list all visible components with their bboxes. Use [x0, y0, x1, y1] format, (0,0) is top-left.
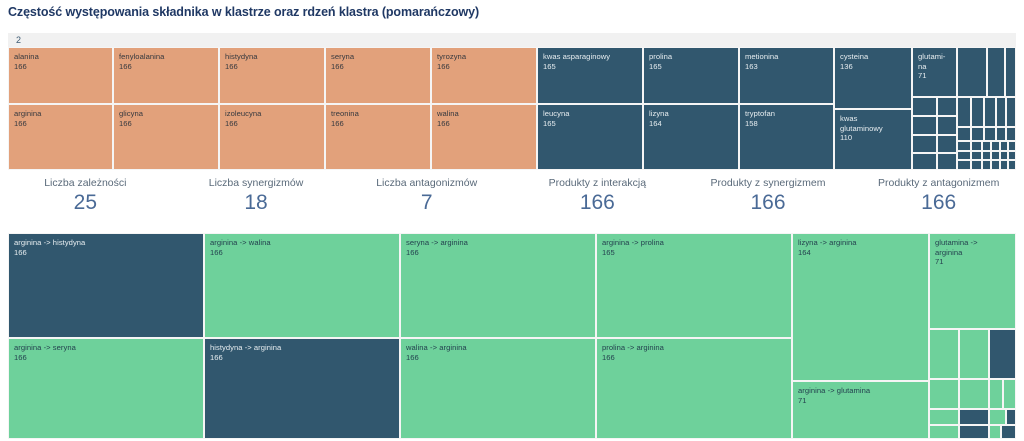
tile-value: 164	[793, 248, 928, 258]
tile-value: 110	[835, 133, 911, 143]
treemap-tile-small[interactable]	[982, 151, 991, 160]
treemap-tile-small[interactable]	[989, 379, 1003, 409]
treemap-tile[interactable]: arginina -> walina 166	[204, 233, 400, 338]
treemap-tile[interactable]: walina 166	[431, 104, 537, 170]
treemap-tile[interactable]: seryna 166	[325, 47, 431, 104]
treemap-tile-small[interactable]	[996, 127, 1006, 141]
treemap-tile-small[interactable]	[1008, 141, 1016, 151]
treemap-tile[interactable]: metionina 163	[739, 47, 834, 104]
tile-value: 166	[432, 62, 536, 72]
tile-value: 166	[9, 248, 203, 258]
treemap-tile-small[interactable]	[957, 160, 971, 170]
treemap-tile-small[interactable]	[1003, 379, 1016, 409]
tile-label: tryptofan	[740, 105, 833, 119]
treemap-tile-small[interactable]	[991, 160, 1000, 170]
bottom-treemap-panel: arginina -> histydyna 166 arginina -> wa…	[8, 233, 1016, 439]
treemap-tile-small[interactable]	[957, 97, 971, 127]
treemap-tile-small[interactable]	[929, 425, 959, 439]
tile-label: fenyloalanina	[114, 48, 218, 62]
kpi-liczba-synergizmow: Liczba synergizmów 18	[171, 176, 342, 228]
tile-value: 165	[597, 248, 791, 258]
treemap-tile-small[interactable]	[1006, 97, 1016, 127]
kpi-label: Produkty z synergizmem	[683, 176, 854, 190]
treemap-tile[interactable]: cysteina 136	[834, 47, 912, 109]
kpi-value: 18	[171, 190, 342, 216]
kpi-value: 166	[512, 190, 683, 216]
tile-value: 166	[401, 353, 595, 363]
tile-value: 163	[740, 62, 833, 72]
treemap-tile[interactable]: glutami- na 71	[912, 47, 957, 97]
treemap-tile-small[interactable]	[971, 160, 982, 170]
tile-label: lizyna	[644, 105, 738, 119]
treemap-tile-small[interactable]	[929, 409, 959, 425]
treemap-tile-small[interactable]	[937, 116, 957, 135]
treemap-tile-small[interactable]	[1006, 127, 1016, 141]
treemap-tile-small[interactable]	[984, 97, 996, 127]
treemap-tile[interactable]: tryptofan 158	[739, 104, 834, 170]
kpi-label: Liczba antagonizmów	[341, 176, 512, 190]
kpi-row: Liczba zależności 25 Liczba synergizmów …	[0, 176, 1024, 228]
treemap-tile[interactable]: leucyna 165	[537, 104, 643, 170]
kpi-label: Produkty z antagonizmem	[853, 176, 1024, 190]
tile-label: histydyna	[220, 48, 324, 62]
treemap-tile[interactable]: tyrozyna 166	[431, 47, 537, 104]
treemap-tile[interactable]: izoleucyna 166	[219, 104, 325, 170]
treemap-tile[interactable]: arginina -> prolina 165	[596, 233, 792, 338]
treemap-tile-small[interactable]	[971, 141, 982, 151]
treemap-tile-small[interactable]	[971, 97, 984, 127]
kpi-value: 7	[341, 190, 512, 216]
tile-value: 166	[9, 119, 112, 129]
tile-label: glutami- na	[913, 48, 956, 71]
tile-value: 165	[538, 62, 642, 72]
tile-value: 166	[326, 119, 430, 129]
treemap-tile-small[interactable]	[996, 97, 1006, 127]
treemap-tile-small[interactable]	[991, 151, 1000, 160]
tile-label: seryna	[326, 48, 430, 62]
tile-value: 166	[9, 62, 112, 72]
tile-label: lizyna -> arginina	[793, 234, 928, 248]
treemap-tile[interactable]: seryna -> arginina 166	[400, 233, 596, 338]
kpi-value: 166	[853, 190, 1024, 216]
tile-value: 166	[9, 353, 203, 363]
tile-label: arginina -> walina	[205, 234, 399, 248]
treemap-tile-small[interactable]	[937, 153, 957, 170]
tile-value: 136	[835, 62, 911, 72]
tile-label: arginina -> seryna	[9, 339, 203, 353]
tile-value: 166	[114, 119, 218, 129]
treemap-tile-small[interactable]	[959, 379, 989, 409]
tile-label: prolina	[644, 48, 738, 62]
tile-label: arginina -> prolina	[597, 234, 791, 248]
treemap-tile-small[interactable]	[989, 409, 1006, 425]
treemap-tile[interactable]: arginina 166	[8, 104, 113, 170]
treemap-tile-small[interactable]	[1008, 160, 1016, 170]
tile-label: histydyna -> arginina	[205, 339, 399, 353]
treemap-tile[interactable]: treonina 166	[325, 104, 431, 170]
treemap-tile-small[interactable]	[987, 47, 1005, 97]
tile-label: seryna -> arginina	[401, 234, 595, 248]
treemap-tile-small[interactable]	[957, 127, 971, 141]
treemap-tile-small[interactable]	[1000, 151, 1008, 160]
treemap-tile[interactable]: glicyna 166	[113, 104, 219, 170]
tile-label: cysteina	[835, 48, 911, 62]
treemap-tile-small[interactable]	[959, 425, 989, 439]
tile-value: 166	[432, 119, 536, 129]
tile-label: walina	[432, 105, 536, 119]
top-treemap-body: alanina 166 fenyloalanina 166 histydyna …	[8, 47, 1016, 170]
top-treemap-group-label: 2	[8, 33, 1016, 47]
tile-label: prolina -> arginina	[597, 339, 791, 353]
treemap-tile-small[interactable]	[1000, 160, 1008, 170]
tile-value: 164	[644, 119, 738, 129]
top-treemap-panel: 2 alanina 166 fenyloalanina 166 histydyn…	[8, 33, 1016, 170]
treemap-tile-small[interactable]	[937, 135, 957, 153]
tile-value: 166	[597, 353, 791, 363]
treemap-tile[interactable]: lizyna -> arginina 164	[792, 233, 929, 381]
treemap-tile[interactable]: arginina -> histydyna 166	[8, 233, 204, 338]
treemap-tile-small[interactable]	[912, 116, 937, 135]
kpi-label: Produkty z interakcją	[512, 176, 683, 190]
treemap-tile-small[interactable]	[984, 127, 996, 141]
tile-value: 166	[114, 62, 218, 72]
treemap-tile-small[interactable]	[929, 329, 959, 379]
treemap-tile-small[interactable]	[912, 135, 937, 153]
treemap-tile[interactable]: kwas asparaginowy 165	[537, 47, 643, 104]
treemap-tile[interactable]: fenyloalanina 166	[113, 47, 219, 104]
tile-label: walina -> arginina	[401, 339, 595, 353]
treemap-tile-small[interactable]	[957, 151, 971, 160]
tile-label: kwas asparaginowy	[538, 48, 642, 62]
tile-label: kwas glutaminowy	[835, 110, 911, 133]
tile-value: 165	[538, 119, 642, 129]
treemap-tile-small[interactable]	[1001, 425, 1016, 439]
tile-label: arginina -> histydyna	[9, 234, 203, 248]
treemap-tile[interactable]: arginina -> seryna 166	[8, 338, 204, 439]
kpi-value: 25	[0, 190, 171, 216]
tile-value: 165	[644, 62, 738, 72]
tile-value: 166	[220, 119, 324, 129]
treemap-tile[interactable]: histydyna 166	[219, 47, 325, 104]
tile-label: metionina	[740, 48, 833, 62]
tile-label: glicyna	[114, 105, 218, 119]
tile-value: 166	[205, 248, 399, 258]
treemap-tile-small[interactable]	[959, 329, 989, 379]
treemap-tile-small[interactable]	[991, 141, 1000, 151]
treemap-tile-small[interactable]	[959, 409, 989, 425]
tile-label: arginina -> glutamina	[793, 382, 928, 396]
tile-label: tyrozyna	[432, 48, 536, 62]
treemap-tile-small[interactable]	[912, 97, 937, 116]
treemap-tile[interactable]: prolina 165	[643, 47, 739, 104]
tile-value: 71	[913, 71, 956, 81]
dashboard-page: Częstość występowania składnika w klastr…	[0, 0, 1024, 441]
tile-label: glutamina -> arginina	[930, 234, 1015, 257]
kpi-value: 166	[683, 190, 854, 216]
treemap-tile[interactable]: glutamina -> arginina 71	[929, 233, 1016, 329]
treemap-tile-small[interactable]	[1008, 151, 1016, 160]
tile-value: 71	[793, 396, 928, 406]
kpi-liczba-antagonizmow: Liczba antagonizmów 7	[341, 176, 512, 228]
tile-value: 158	[740, 119, 833, 129]
treemap-tile[interactable]: lizyna 164	[643, 104, 739, 170]
treemap-tile[interactable]: prolina -> arginina 166	[596, 338, 792, 439]
treemap-tile-small[interactable]	[1000, 141, 1008, 151]
tile-label: arginina	[9, 105, 112, 119]
kpi-label: Liczba synergizmów	[171, 176, 342, 190]
treemap-tile-small[interactable]	[937, 97, 957, 116]
treemap-tile-small[interactable]	[929, 379, 959, 409]
treemap-tile-small[interactable]	[989, 329, 1016, 379]
tile-label: izoleucyna	[220, 105, 324, 119]
treemap-tile-small[interactable]	[971, 151, 982, 160]
treemap-tile-small[interactable]	[971, 127, 984, 141]
tile-value: 166	[205, 353, 399, 363]
tile-value: 166	[401, 248, 595, 258]
treemap-tile-small[interactable]	[1005, 47, 1016, 97]
tile-label: treonina	[326, 105, 430, 119]
treemap-tile-small[interactable]	[957, 141, 971, 151]
treemap-tile[interactable]: histydyna -> arginina 166	[204, 338, 400, 439]
tile-label: leucyna	[538, 105, 642, 119]
treemap-tile-small[interactable]	[1006, 409, 1016, 425]
kpi-produkty-z-antagonizmem: Produkty z antagonizmem 166	[853, 176, 1024, 228]
kpi-produkty-z-synergizmem: Produkty z synergizmem 166	[683, 176, 854, 228]
page-title: Częstość występowania składnika w klastr…	[8, 5, 479, 19]
tile-label: alanina	[9, 48, 112, 62]
treemap-tile-small[interactable]	[957, 47, 987, 97]
treemap-tile[interactable]: alanina 166	[8, 47, 113, 104]
treemap-tile-small[interactable]	[989, 425, 1001, 439]
kpi-liczba-zaleznosci: Liczba zależności 25	[0, 176, 171, 228]
treemap-tile-small[interactable]	[982, 141, 991, 151]
tile-value: 166	[326, 62, 430, 72]
tile-value: 71	[930, 257, 1015, 267]
kpi-produkty-z-interakcja: Produkty z interakcją 166	[512, 176, 683, 228]
treemap-tile[interactable]: walina -> arginina 166	[400, 338, 596, 439]
kpi-label: Liczba zależności	[0, 176, 171, 190]
treemap-tile[interactable]: kwas glutaminowy 110	[834, 109, 912, 170]
tile-value: 166	[220, 62, 324, 72]
treemap-tile[interactable]: arginina -> glutamina 71	[792, 381, 929, 439]
treemap-tile-small[interactable]	[982, 160, 991, 170]
treemap-tile-small[interactable]	[912, 153, 937, 170]
